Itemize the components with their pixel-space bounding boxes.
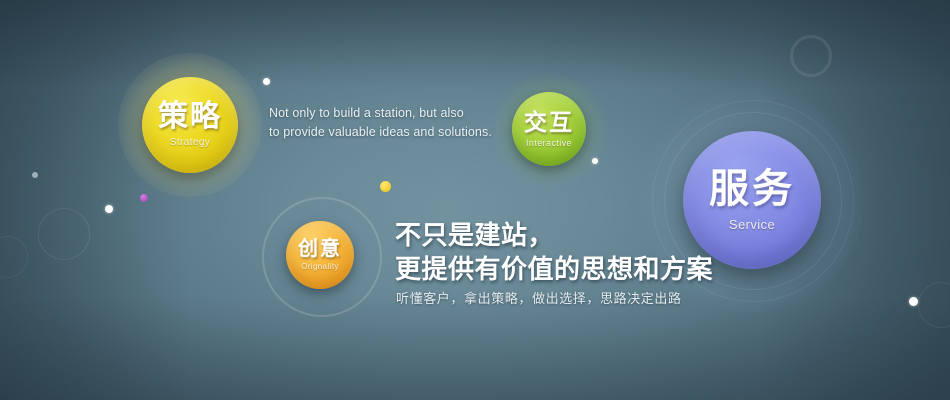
headline-line1: 不只是建站， — [395, 218, 713, 252]
bubble-originality-cn: 创意 — [298, 239, 342, 259]
bubble-strategy[interactable]: 策略 Strategy — [142, 77, 238, 173]
hero-banner: 策略 Strategy 交互 Interactive 创意 Orignality… — [0, 0, 950, 400]
bubble-strategy-cn: 策略 — [158, 102, 222, 132]
bubble-interactive-cn: 交互 — [524, 111, 574, 134]
bubble-strategy-en: Strategy — [170, 137, 210, 148]
headline: 不只是建站， 更提供有价值的思想和方案 — [395, 218, 713, 287]
intro-english-line2: to provide valuable ideas and solutions. — [269, 123, 519, 142]
headline-line2: 更提供有价值的思想和方案 — [395, 252, 713, 286]
subheadline: 听懂客户，拿出策略，做出选择，思路决定出路 — [396, 288, 682, 307]
intro-english-text: Not only to build a station, but also to… — [269, 104, 519, 143]
bubble-originality[interactable]: 创意 Orignality — [286, 221, 354, 289]
bubble-interactive[interactable]: 交互 Interactive — [512, 92, 586, 166]
bubble-service-en: Service — [729, 217, 775, 232]
bubble-service-cn: 服务 — [709, 169, 795, 209]
intro-english-line1: Not only to build a station, but also — [269, 104, 519, 123]
bubble-interactive-en: Interactive — [526, 138, 572, 148]
bubble-originality-en: Orignality — [301, 262, 339, 271]
